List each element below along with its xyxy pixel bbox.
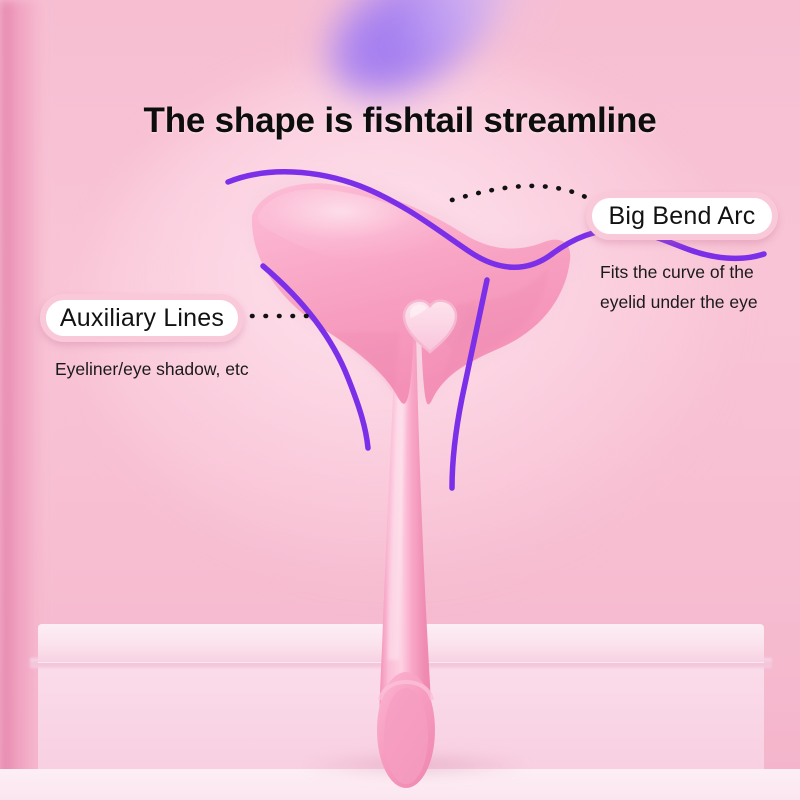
page-title: The shape is fishtail streamline [0,101,800,141]
callout-badge-label: Big Bend Arc [609,202,756,231]
callout-badge-label: Auxiliary Lines [60,304,224,333]
callout-caption-auxiliary-lines: Eyeliner/eye shadow, etc [55,354,249,384]
product-contact-shadow [300,752,530,778]
callout-caption-big-bend-arc: Fits the curve of the eyelid under the e… [600,257,758,317]
callout-badge-big-bend-arc[interactable]: Big Bend Arc [586,192,778,240]
pedestal-top-surface [38,624,764,662]
callout-badge-auxiliary-lines[interactable]: Auxiliary Lines [40,294,244,342]
product-feature-scene: The shape is fishtail streamline Auxilia… [0,0,800,800]
